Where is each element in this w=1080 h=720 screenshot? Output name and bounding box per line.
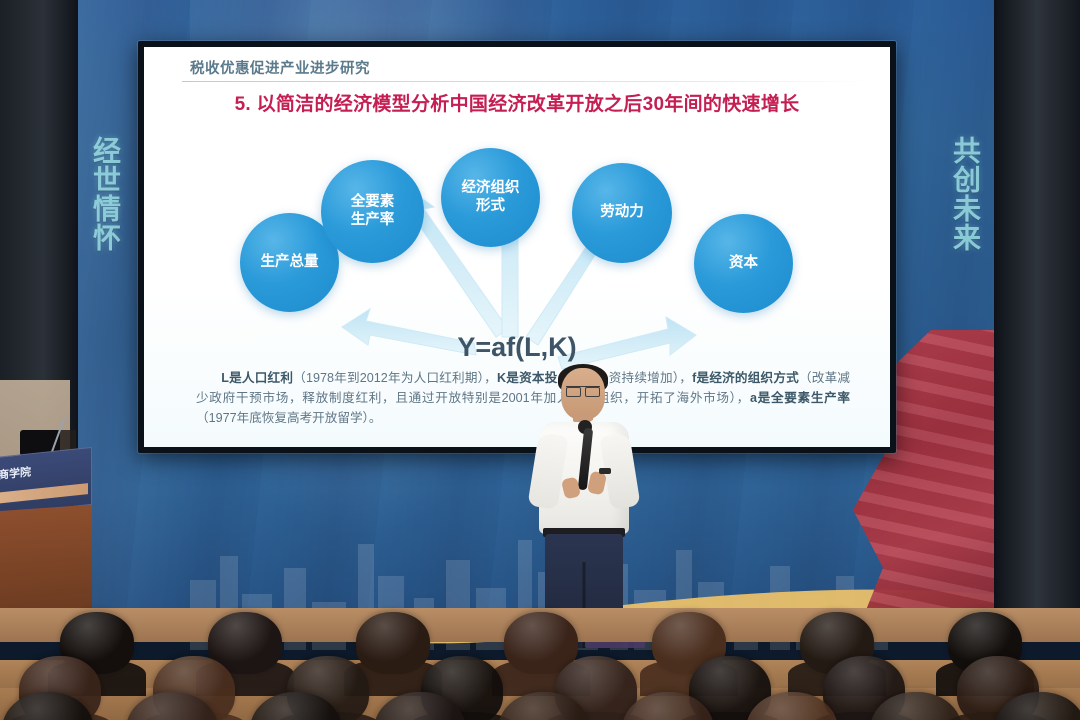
paragraph-segment: （1977年底恢复高考开放留学）。 bbox=[196, 411, 381, 425]
paragraph-segment: a是全要素生产率 bbox=[750, 391, 850, 405]
node-economic-organization-form[interactable]: 经济组织 形式 bbox=[441, 148, 540, 247]
formula-text: Y=af(L,K) bbox=[144, 332, 890, 363]
presentation-slide: 税收优惠促进产业进步研究 5. 以简洁的经济模型分析中国经济改革开放之后30年间… bbox=[144, 47, 890, 447]
node-label: 生产总量 bbox=[261, 254, 319, 271]
node-label: 全要素 bbox=[351, 194, 395, 211]
paragraph-segment: （1978年到2012年为人口红利期）， bbox=[293, 371, 497, 385]
slide-heading: 5. 以简洁的经济模型分析中国经济改革开放之后30年间的快速增长 bbox=[144, 89, 890, 116]
lecture-hall-scene: 经世情怀 共创未来 税收优惠促进产业进步研究 5. 以简洁的经济模型分析中国经济… bbox=[0, 0, 1080, 720]
node-capital[interactable]: 资本 bbox=[694, 214, 793, 313]
projection-screen[interactable]: 税收优惠促进产业进步研究 5. 以简洁的经济模型分析中国经济改革开放之后30年间… bbox=[138, 41, 896, 453]
node-labor[interactable]: 劳动力 bbox=[572, 163, 672, 263]
audience-area bbox=[0, 560, 1080, 720]
node-label: 经济组织 bbox=[462, 180, 520, 197]
calligraphy-left: 经世情怀 bbox=[72, 136, 124, 252]
paragraph-segment: L是人口红利 bbox=[221, 371, 293, 385]
wall-right bbox=[994, 0, 1080, 640]
glasses-icon bbox=[566, 386, 600, 394]
node-total-factor-productivity[interactable]: 全要素 生产率 bbox=[321, 160, 424, 263]
title-divider bbox=[182, 81, 872, 82]
node-label: 资本 bbox=[729, 255, 758, 272]
slide-title: 税收优惠促进产业进步研究 bbox=[190, 57, 370, 78]
calligraphy-right: 共创未来 bbox=[932, 136, 984, 252]
node-label-2: 形式 bbox=[462, 198, 520, 215]
wristwatch-icon bbox=[599, 468, 611, 474]
paragraph-segment: f是经济的组织方式 bbox=[692, 371, 799, 385]
node-label: 劳动力 bbox=[600, 204, 644, 221]
node-label-2: 生产率 bbox=[351, 212, 395, 229]
audience-head bbox=[356, 612, 430, 674]
